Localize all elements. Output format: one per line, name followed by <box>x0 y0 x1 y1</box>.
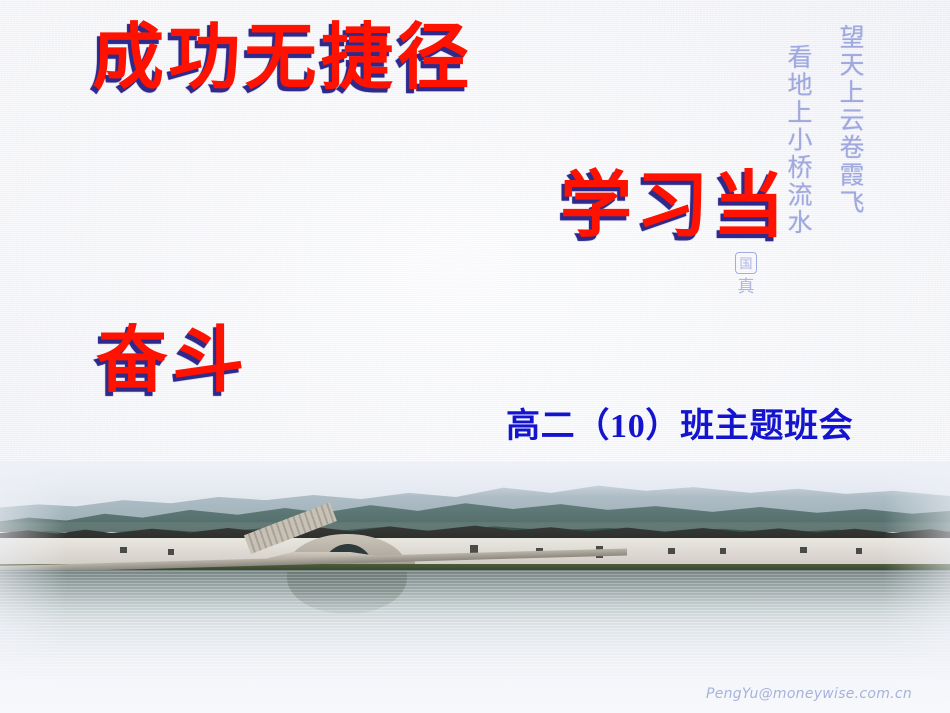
village-photo <box>0 462 950 713</box>
headline-line-1: 成功无捷径 <box>92 22 474 94</box>
photo-edge-fade <box>0 462 950 713</box>
presentation-slide: 望天上云卷霞飞 看地上小桥流水 国 真 成功无捷径 学习当 奋斗 高二（10）班… <box>0 0 950 713</box>
watermark-text: PengYu@moneywise.com.cn <box>706 686 912 702</box>
village-photo-content <box>0 462 950 713</box>
headline-line-3: 奋斗 <box>96 325 249 397</box>
headline-line-2: 学习当 <box>560 170 789 242</box>
subtitle-text: 高二（10）班主题班会 <box>506 406 886 447</box>
